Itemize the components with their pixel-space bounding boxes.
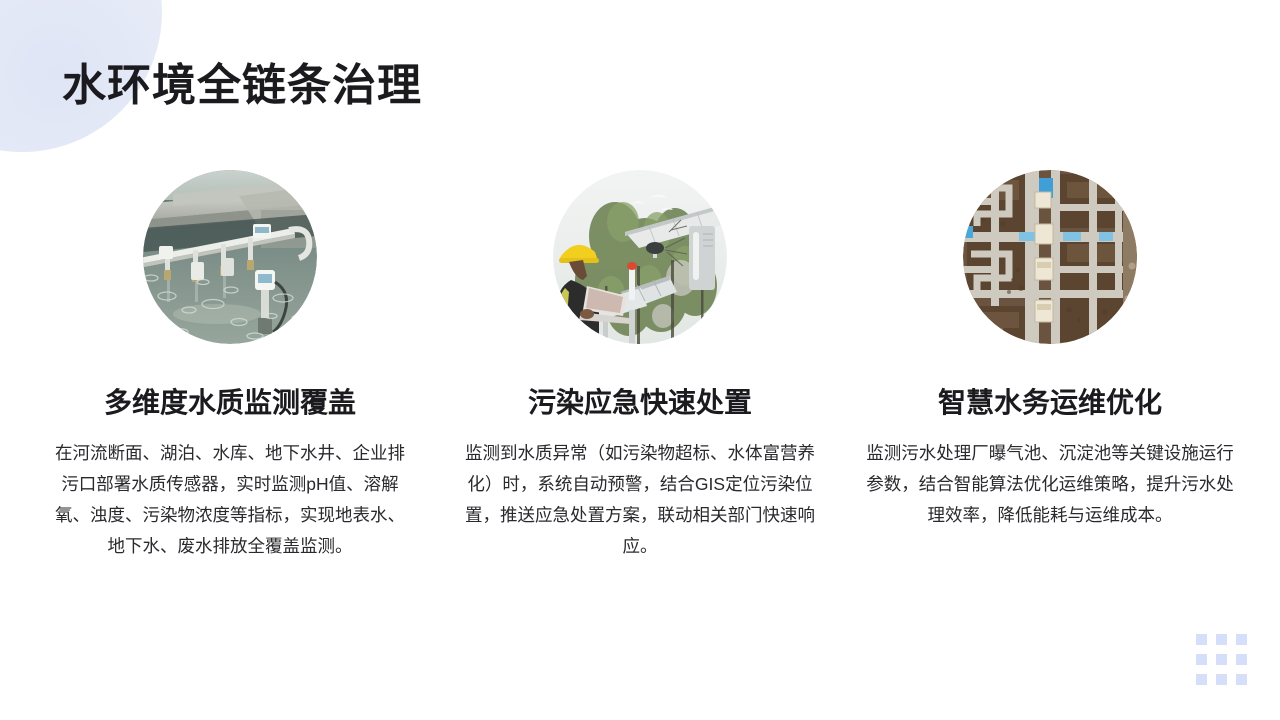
dot-grid-cell	[1216, 674, 1227, 685]
dot-grid-decoration	[1196, 634, 1247, 685]
feature-column-3: 智慧水务运维优化 监测污水处理厂曝气池、沉淀池等关键设施运行参数，结合智能算法优…	[860, 170, 1240, 562]
dot-grid-cell	[1216, 634, 1227, 645]
feature-body-2: 监测到水质异常（如污染物超标、水体富营养化）时，系统自动预警，结合GIS定位污染…	[460, 438, 820, 562]
feature-heading-3: 智慧水务运维优化	[938, 384, 1162, 422]
field-engineer-monitoring-photo	[553, 170, 727, 344]
water-quality-monitoring-photo	[143, 170, 317, 344]
feature-column-1: 多维度水质监测覆盖 在河流断面、湖泊、水库、地下水井、企业排污口部署水质传感器，…	[40, 170, 420, 562]
dot-grid-cell	[1236, 674, 1247, 685]
dot-grid-cell	[1236, 654, 1247, 665]
dot-grid-cell	[1196, 634, 1207, 645]
dot-grid-cell	[1196, 674, 1207, 685]
feature-heading-2: 污染应急快速处置	[528, 384, 752, 422]
feature-body-1: 在河流断面、湖泊、水库、地下水井、企业排污口部署水质传感器，实时监测pH值、溶解…	[49, 438, 411, 562]
feature-heading-1: 多维度水质监测覆盖	[104, 384, 356, 422]
dot-grid-cell	[1236, 634, 1247, 645]
feature-columns: 多维度水质监测覆盖 在河流断面、湖泊、水库、地下水井、企业排污口部署水质传感器，…	[0, 170, 1280, 562]
dot-grid-cell	[1216, 654, 1227, 665]
slide-root: 水环境全链条治理	[0, 0, 1280, 720]
wastewater-plant-aerial-photo	[963, 170, 1137, 344]
dot-grid-cell	[1196, 654, 1207, 665]
page-title: 水环境全链条治理	[62, 58, 422, 114]
feature-body-3: 监测污水处理厂曝气池、沉淀池等关键设施运行参数，结合智能算法优化运维策略，提升污…	[866, 438, 1234, 531]
feature-column-2: 污染应急快速处置 监测到水质异常（如污染物超标、水体富营养化）时，系统自动预警，…	[450, 170, 830, 562]
